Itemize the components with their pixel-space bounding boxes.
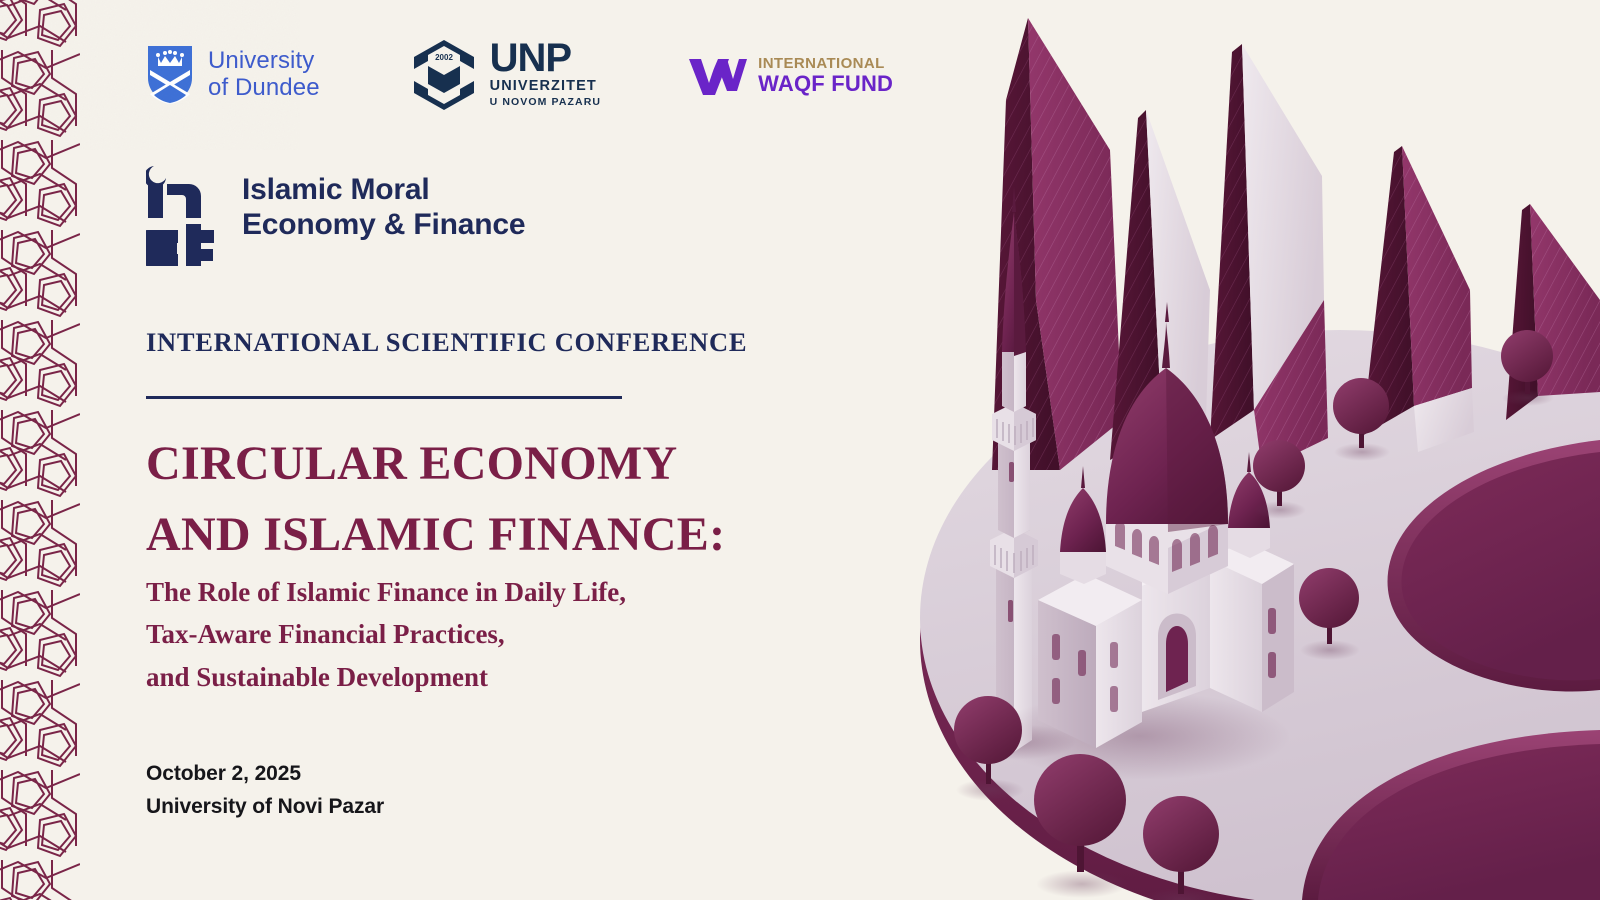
event-date: October 2, 2025 [146,758,384,791]
tree [1299,568,1360,660]
university-of-dundee-logo: University of Dundee [146,44,320,106]
mosque [990,302,1294,780]
dundee-line-2: of Dundee [208,75,320,102]
page-title: CIRCULAR ECONOMY AND ISLAMIC FINANCE: [146,428,725,570]
tree [1253,440,1306,519]
waqf-line-1: INTERNATIONAL [758,56,893,71]
international-waqf-fund-logo: INTERNATIONAL WAQF FUND [687,53,893,97]
page-subtitle: The Role of Islamic Finance in Daily Lif… [146,571,626,698]
kicker-divider [146,396,622,399]
skyscraper-tower-2 [1110,110,1210,495]
subtitle-line-3: and Sustainable Development [146,656,626,698]
conference-kicker: INTERNATIONAL SCIENTIFIC CONFERENCE [146,327,747,358]
unp-year: 2002 [435,53,453,62]
conference-poster: University of Dundee 2002 UNP UNIVERZITE… [0,0,1600,900]
minaret [956,186,1076,760]
imef-crescent-monogram-icon [146,148,224,266]
subtitle-line-2: Tax-Aware Financial Practices, [146,613,626,655]
tree [1333,378,1390,461]
univerzitet-u-novom-pazaru-logo: 2002 UNP UNIVERZITET U NOVOM PAZARU [408,38,601,112]
partner-logo-row: University of Dundee 2002 UNP UNIVERZITE… [146,38,893,112]
skyscraper-tower-1 [992,18,1122,470]
unp-abbr: UNP [490,40,601,77]
reflecting-pool-upper [1388,440,1600,692]
isometric-mosque-and-skyline-illustration [910,0,1600,900]
small-dome-right [1228,452,1270,558]
skyscraper-tower-4 [1362,146,1474,452]
imef-logo: Islamic Moral Economy & Finance [146,148,525,266]
skyscraper-tower-3 [1210,44,1328,470]
title-line-2: AND ISLAMIC FINANCE: [146,499,725,570]
tree [1142,796,1222,900]
small-dome-left [1060,466,1106,584]
imef-line-1: Islamic Moral [242,172,525,207]
double-w-icon [687,53,749,97]
title-line-1: CIRCULAR ECONOMY [146,428,725,499]
waqf-line-2: WAQF FUND [758,73,893,95]
skyscraper-tower-5 [1506,204,1600,420]
tree [1034,754,1128,898]
ground-platform-side [920,350,1600,900]
unp-line-2: U NOVOM PAZARU [490,96,601,110]
event-venue: University of Novi Pazar [146,791,384,824]
unp-line-1: UNIVERZITET [490,77,601,96]
waqf-wordmark: INTERNATIONAL WAQF FUND [758,56,893,95]
ground-platform-top [920,330,1600,900]
tree [954,696,1024,801]
islamic-geometric-border-pattern [0,0,80,900]
tree [1501,330,1554,406]
imef-line-2: Economy & Finance [242,207,525,242]
reflecting-pool-lower [1302,730,1600,900]
hexagon-book-icon: 2002 [408,38,480,112]
dundee-line-1: University [208,48,320,75]
mosque-dome [1106,368,1228,524]
dundee-wordmark: University of Dundee [208,48,320,102]
event-meta: October 2, 2025 University of Novi Pazar [146,758,384,823]
shield-crown-saltire-icon [146,44,194,106]
unp-wordmark: UNP UNIVERZITET U NOVOM PAZARU [490,40,601,109]
subtitle-line-1: The Role of Islamic Finance in Daily Lif… [146,571,626,613]
imef-wordmark: Islamic Moral Economy & Finance [242,172,525,243]
